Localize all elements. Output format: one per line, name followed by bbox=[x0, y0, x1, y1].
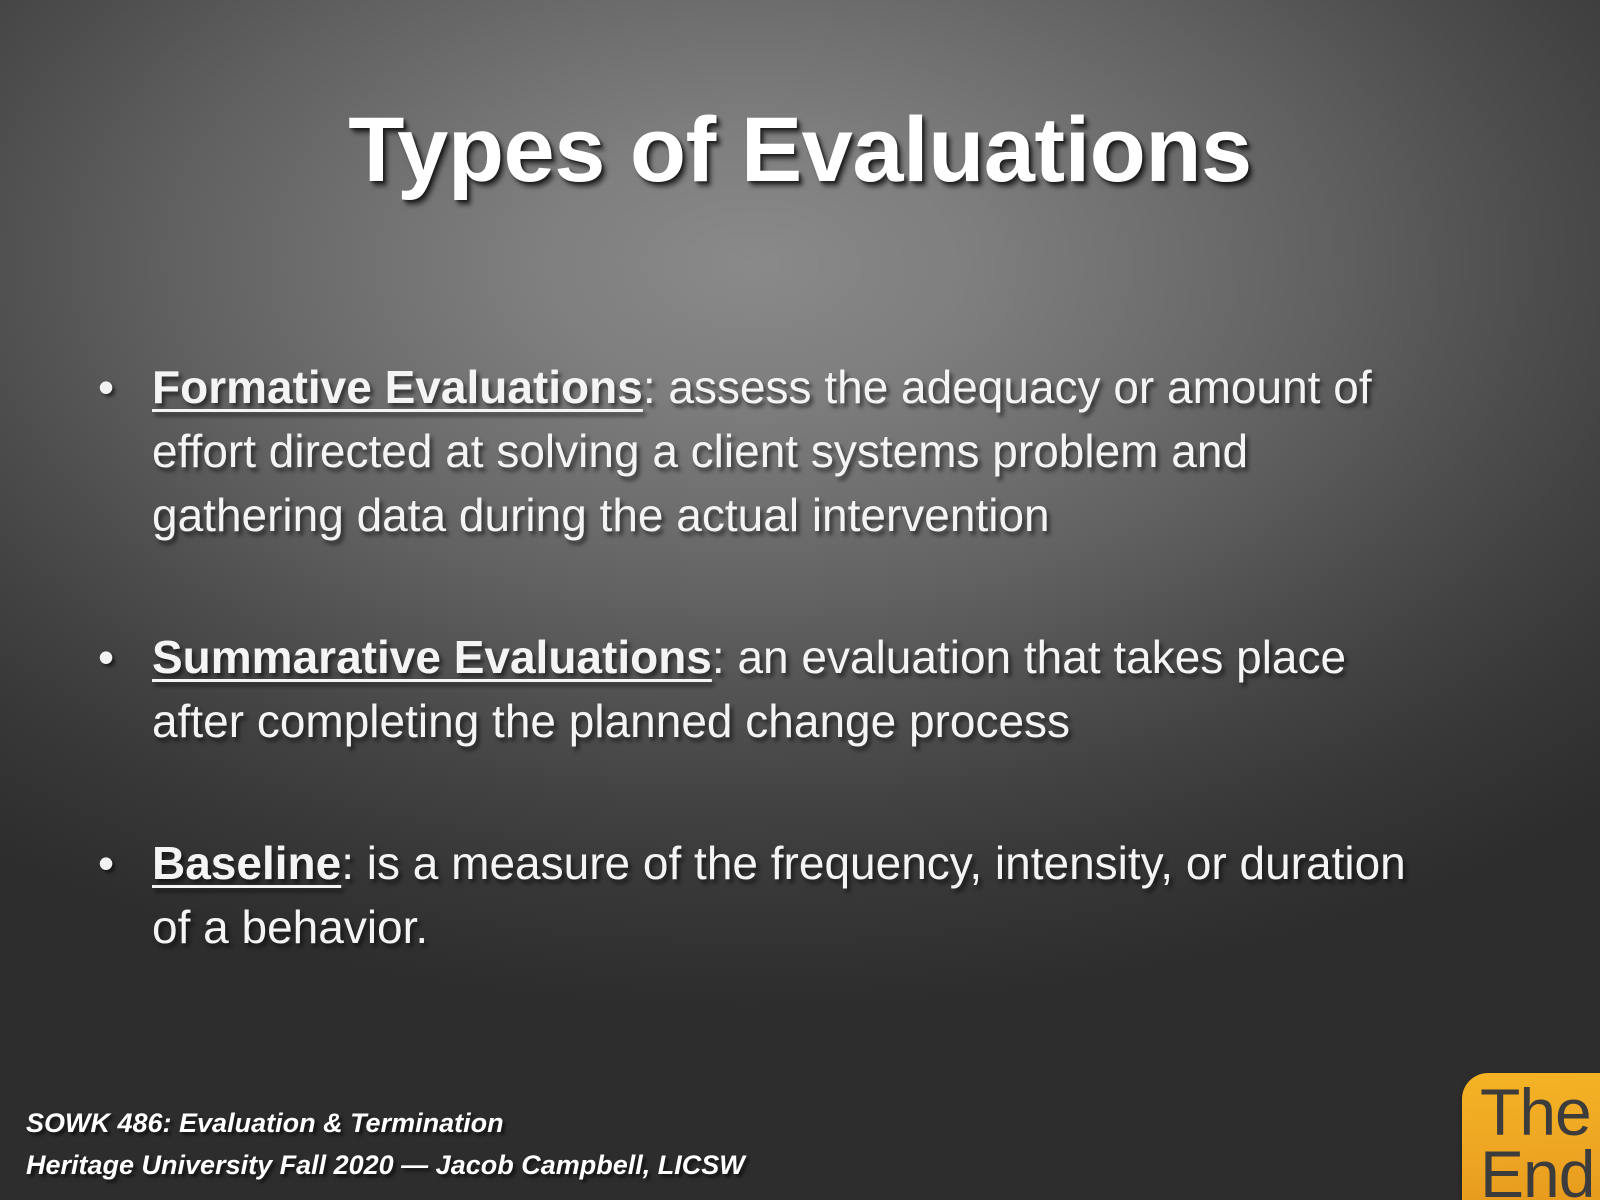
the-end-line-1: The bbox=[1480, 1081, 1594, 1143]
the-end-badge-label: The End bbox=[1480, 1081, 1594, 1200]
list-item: • Baseline: is a measure of the frequenc… bbox=[92, 831, 1422, 959]
the-end-line-2: End bbox=[1480, 1143, 1594, 1200]
slide-title: Types of Evaluations bbox=[0, 102, 1600, 199]
presentation-slide: Types of Evaluations • Formative Evaluat… bbox=[0, 0, 1600, 1200]
bullet-list: • Formative Evaluations: assess the adeq… bbox=[92, 355, 1422, 959]
bullet-text: Formative Evaluations: assess the adequa… bbox=[152, 355, 1422, 547]
bullet-point-icon: • bbox=[92, 831, 152, 895]
footer-course-line: SOWK 486: Evaluation & Termination bbox=[26, 1102, 745, 1144]
bullet-term: Baseline bbox=[152, 837, 341, 889]
bullet-point-icon: • bbox=[92, 625, 152, 689]
footer-institution-line: Heritage University Fall 2020 — Jacob Ca… bbox=[26, 1144, 745, 1186]
bullet-point-icon: • bbox=[92, 355, 152, 419]
list-item: • Summarative Evaluations: an evaluation… bbox=[92, 625, 1422, 753]
bullet-text: Summarative Evaluations: an evaluation t… bbox=[152, 625, 1422, 753]
bullet-definition: : is a measure of the frequency, intensi… bbox=[152, 837, 1406, 953]
bullet-term: Summarative Evaluations bbox=[152, 631, 712, 683]
list-item: • Formative Evaluations: assess the adeq… bbox=[92, 355, 1422, 547]
slide-footer: SOWK 486: Evaluation & Termination Herit… bbox=[26, 1102, 745, 1186]
bullet-term: Formative Evaluations bbox=[152, 361, 643, 413]
bullet-text: Baseline: is a measure of the frequency,… bbox=[152, 831, 1422, 959]
the-end-badge: The End bbox=[1462, 1073, 1600, 1200]
